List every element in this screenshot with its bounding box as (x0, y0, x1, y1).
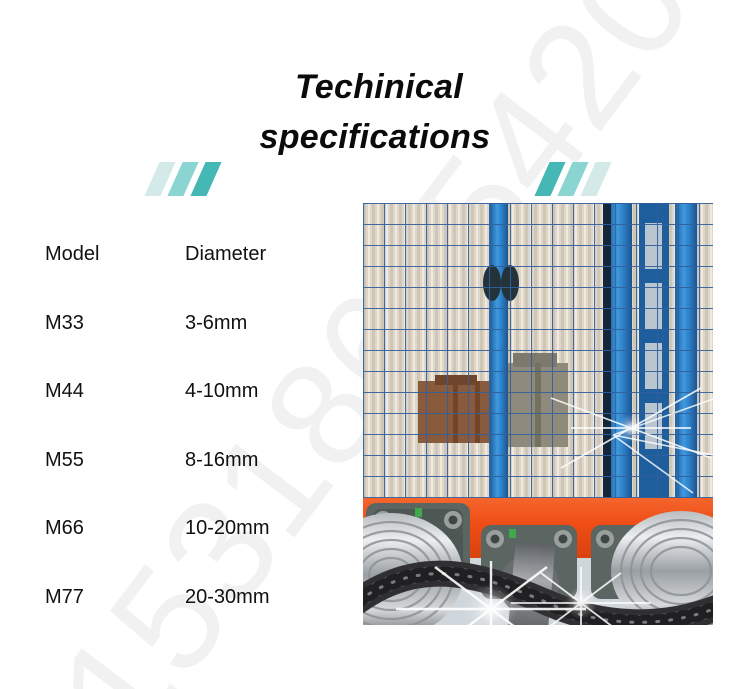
cell-model: M44 (45, 380, 185, 449)
cell-diameter: 3-6mm (185, 312, 335, 381)
page-header: Techinical specifications (0, 62, 750, 170)
cell-diameter: 10-20mm (185, 517, 335, 586)
specifications-table: Model Diameter M33 3-6mm M44 4-10mm M55 … (45, 243, 335, 654)
table-row: M66 10-20mm (45, 517, 335, 586)
cell-diameter: 20-30mm (185, 586, 335, 655)
cell-model: M77 (45, 586, 185, 655)
table-row: M44 4-10mm (45, 380, 335, 449)
column-header-model: Model (45, 243, 185, 312)
product-photo (363, 203, 713, 625)
table-row: M77 20-30mm (45, 586, 335, 655)
cell-diameter: 4-10mm (185, 380, 335, 449)
page-title: Techinical specifications (0, 62, 750, 162)
specifications-page: 15318645420 Techinical specifications Mo… (0, 0, 750, 689)
page-title-line-2: specifications (0, 112, 750, 162)
table-row: M55 8-16mm (45, 449, 335, 518)
table-header-row: Model Diameter (45, 243, 335, 312)
cell-model: M66 (45, 517, 185, 586)
cell-diameter: 8-16mm (185, 449, 335, 518)
column-header-diameter: Diameter (185, 243, 335, 312)
cell-model: M55 (45, 449, 185, 518)
decorative-slashes-right (542, 162, 604, 196)
cell-model: M33 (45, 312, 185, 381)
page-title-line-1: Techinical (0, 62, 750, 112)
decorative-slashes-left (152, 162, 214, 196)
table-row: M33 3-6mm (45, 312, 335, 381)
